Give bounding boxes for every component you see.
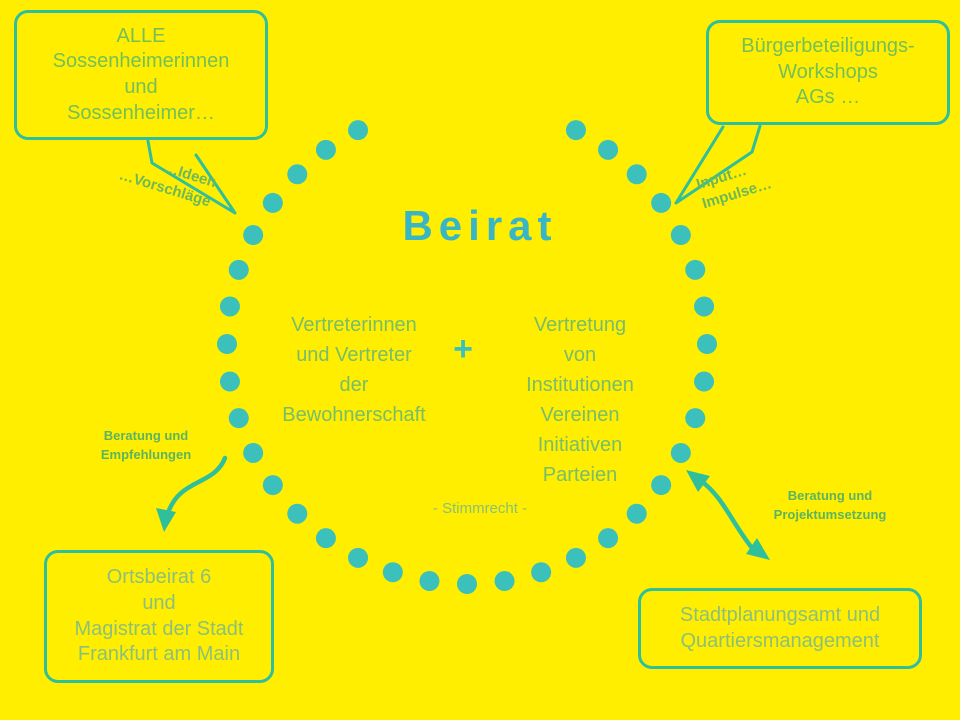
bubble-workshops[interactable]: Bürgerbeteiligungs- Workshops AGs …	[706, 20, 950, 125]
box-ortsbeirat-line-3: Magistrat der Stadt	[75, 617, 244, 643]
ring-dot	[229, 408, 249, 428]
ring-dot	[419, 571, 439, 591]
bubble-workshops-line-2: Workshops	[778, 60, 878, 86]
ring-dot	[627, 164, 647, 184]
bubble-residents[interactable]: ALLE Sossenheimerinnen und Sossenheimer…	[14, 10, 268, 140]
council-residents-line-2: und Vertreter	[266, 340, 442, 370]
box-ortsbeirat-line-1: Ortsbeirat 6	[107, 565, 211, 591]
council-institutions-line-5: Initiativen	[492, 430, 668, 460]
ring-dot	[243, 443, 263, 463]
ring-dot	[566, 548, 586, 568]
box-stadtplanung[interactable]: Stadtplanungsamt und Quartiersmanagement	[638, 588, 922, 669]
box-ortsbeirat[interactable]: Ortsbeirat 6 und Magistrat der Stadt Fra…	[44, 550, 274, 683]
ring-dot	[217, 334, 237, 354]
bubble-workshops-line-1: Bürgerbeteiligungs-	[741, 34, 914, 60]
label-beratung-empfehlungen: Beratung und Empfehlungen	[78, 427, 214, 465]
label-beratung-empfehlungen-line-1: Beratung und	[78, 427, 214, 446]
box-ortsbeirat-line-4: Frankfurt am Main	[78, 642, 240, 668]
ring-dot	[348, 120, 368, 140]
ring-dot	[287, 164, 307, 184]
council-residents-line-1: Vertreterinnen	[266, 310, 442, 340]
council-institutions-column: Vertretung von Institutionen Vereinen In…	[492, 310, 668, 490]
label-beratung-empfehlungen-line-2: Empfehlungen	[78, 446, 214, 465]
ring-dot	[220, 296, 240, 316]
ring-dot	[229, 260, 249, 280]
ring-dot	[685, 408, 705, 428]
council-institutions-line-2: von	[492, 340, 668, 370]
council-institutions-line-6: Parteien	[492, 460, 668, 490]
bubble-residents-line-1: ALLE	[117, 24, 166, 50]
ring-dot	[697, 334, 717, 354]
ring-dot	[531, 562, 551, 582]
ring-dot	[348, 548, 368, 568]
council-institutions-line-4: Vereinen	[492, 400, 668, 430]
label-beratung-projektumsetzung-line-2: Projektumsetzung	[748, 506, 912, 525]
council-residents-line-3: der	[266, 370, 442, 400]
bubble-residents-line-3: und	[124, 75, 157, 101]
council-institutions-line-1: Vertretung	[492, 310, 668, 340]
diagram-canvas: ALLE Sossenheimerinnen und Sossenheimer……	[0, 0, 960, 720]
bubble-workshops-line-3: AGs …	[796, 85, 860, 111]
page-title: Beirat	[0, 202, 960, 250]
plus-icon: +	[440, 330, 486, 369]
ring-dot	[685, 260, 705, 280]
ring-dot	[457, 574, 477, 594]
label-beratung-projektumsetzung: Beratung und Projektumsetzung	[748, 487, 912, 525]
bubble-residents-line-4: Sossenheimer…	[67, 101, 215, 127]
ring-dot	[263, 475, 283, 495]
ring-dot	[671, 443, 691, 463]
council-residents-line-4: Bewohnerschaft	[266, 400, 442, 430]
bubble-residents-line-2: Sossenheimerinnen	[53, 49, 230, 75]
box-stadtplanung-line-1: Stadtplanungsamt und	[680, 603, 880, 629]
ring-dot	[383, 562, 403, 582]
label-beratung-projektumsetzung-line-1: Beratung und	[748, 487, 912, 506]
ring-dot	[316, 140, 336, 160]
box-ortsbeirat-line-2: und	[142, 591, 175, 617]
ring-dot	[566, 120, 586, 140]
box-stadtplanung-line-2: Quartiersmanagement	[681, 629, 880, 655]
ring-dot	[694, 296, 714, 316]
ring-dot	[495, 571, 515, 591]
council-residents-column: Vertreterinnen und Vertreter der Bewohne…	[266, 310, 442, 430]
ring-dot	[220, 372, 240, 392]
ring-dot	[694, 372, 714, 392]
ring-dot	[598, 528, 618, 548]
council-institutions-line-3: Institutionen	[492, 370, 668, 400]
ring-dot	[316, 528, 336, 548]
arrow-beratung-empfehlungen	[156, 458, 225, 532]
ring-dot	[598, 140, 618, 160]
